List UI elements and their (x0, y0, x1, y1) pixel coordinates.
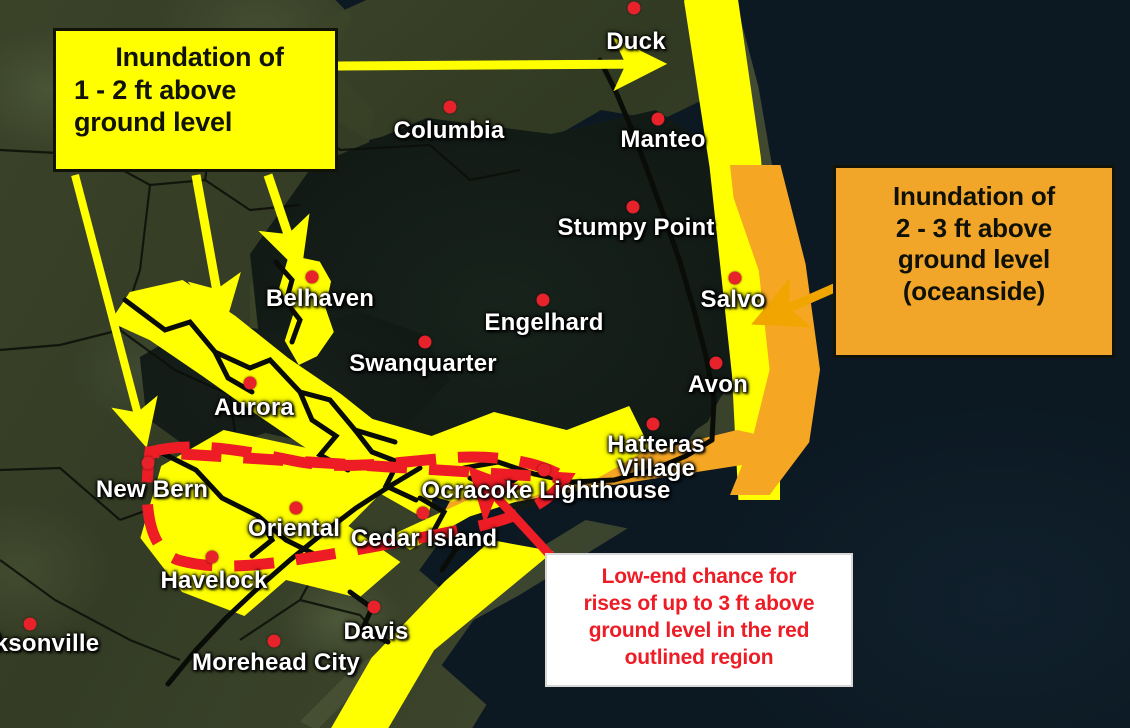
callout-red-line-1: Low-end chance for (547, 564, 851, 591)
city-label-text: New Bern (96, 478, 208, 502)
inundation-2-3ft-callout[interactable]: Inundation of 2 - 3 ft above ground leve… (833, 165, 1115, 358)
city-marker-dot (368, 601, 381, 614)
callout-yellow-line-2: 1 - 2 ft above (56, 74, 335, 107)
city-label: Salvo (700, 288, 765, 312)
city-label: Cedar Island (351, 527, 497, 551)
city-label-text: Avon (688, 373, 748, 397)
city-label-text: Davis (343, 620, 408, 644)
callout-orange-line-1: Inundation of (836, 181, 1112, 213)
city-label-text: Manteo (620, 128, 705, 152)
city-label: Davis (343, 620, 408, 644)
city-label-text: Cedar Island (351, 527, 497, 551)
city-marker-dot (268, 635, 281, 648)
city-label-text: Swanquarter (349, 352, 497, 376)
city-marker-dot (244, 377, 257, 390)
city-label: Belhaven (266, 287, 374, 311)
city-marker-dot (417, 507, 430, 520)
city-label-text: Havelock (161, 569, 268, 593)
city-label-text: Engelhard (484, 311, 603, 335)
city-label: ksonville (0, 632, 99, 656)
callout-yellow-line-3: ground level (56, 106, 335, 139)
city-label: Duck (606, 30, 666, 54)
city-label-text: Hatteras (607, 433, 705, 457)
city-marker-dot (537, 294, 550, 307)
city-marker-dot (538, 464, 551, 477)
city-label: New Bern (96, 478, 208, 502)
city-label-text: Stumpy Point (557, 216, 714, 240)
city-label: Oriental (248, 517, 340, 541)
city-label: Swanquarter (349, 352, 497, 376)
callout-red-line-3: ground level in the red (547, 618, 851, 645)
city-label-text: Oriental (248, 517, 340, 541)
city-label: Ocracoke Lighthouse (421, 479, 670, 503)
city-marker-dot (647, 418, 660, 431)
city-label: Engelhard (484, 311, 603, 335)
city-label-text: Belhaven (266, 287, 374, 311)
city-label-text: Ocracoke Lighthouse (421, 479, 670, 503)
callout-red-line-4: outlined region (547, 645, 851, 672)
city-label: HatterasVillage (607, 433, 705, 482)
city-label: Avon (688, 373, 748, 397)
callout-red-line-2: rises of up to 3 ft above (547, 591, 851, 618)
callout-orange-line-3: ground level (836, 244, 1112, 276)
city-label-text: Aurora (214, 396, 294, 420)
storm-surge-map: DuckColumbiaManteoStumpy PointBelhavenSa… (0, 0, 1130, 728)
city-marker-dot (444, 101, 457, 114)
callout-orange-line-2: 2 - 3 ft above (836, 213, 1112, 245)
city-label: Columbia (394, 119, 505, 143)
city-marker-dot (710, 357, 723, 370)
city-label-text: Morehead City (192, 651, 360, 675)
city-marker-dot (628, 2, 641, 15)
city-marker-dot (729, 272, 742, 285)
city-marker-dot (24, 618, 37, 631)
city-marker-dot (306, 271, 319, 284)
city-marker-dot (627, 201, 640, 214)
city-label-text: Salvo (700, 288, 765, 312)
callout-orange-line-4: (oceanside) (836, 276, 1112, 308)
city-marker-dot (652, 113, 665, 126)
city-marker-dot (290, 502, 303, 515)
city-label: Stumpy Point (557, 216, 714, 240)
city-label: Morehead City (192, 651, 360, 675)
city-marker-dot (142, 457, 155, 470)
city-label: Manteo (620, 128, 705, 152)
city-marker-dot (206, 551, 219, 564)
city-label: Havelock (161, 569, 268, 593)
callout-yellow-line-1: Inundation of (56, 41, 335, 74)
low-end-chance-callout[interactable]: Low-end chance for rises of up to 3 ft a… (545, 553, 853, 687)
inundation-1-2ft-callout[interactable]: Inundation of 1 - 2 ft above ground leve… (53, 28, 338, 172)
city-marker-dot (419, 336, 432, 349)
city-label-text: ksonville (0, 632, 99, 656)
city-label-text: Columbia (394, 119, 505, 143)
city-label: Aurora (214, 396, 294, 420)
city-label-text: Duck (606, 30, 666, 54)
